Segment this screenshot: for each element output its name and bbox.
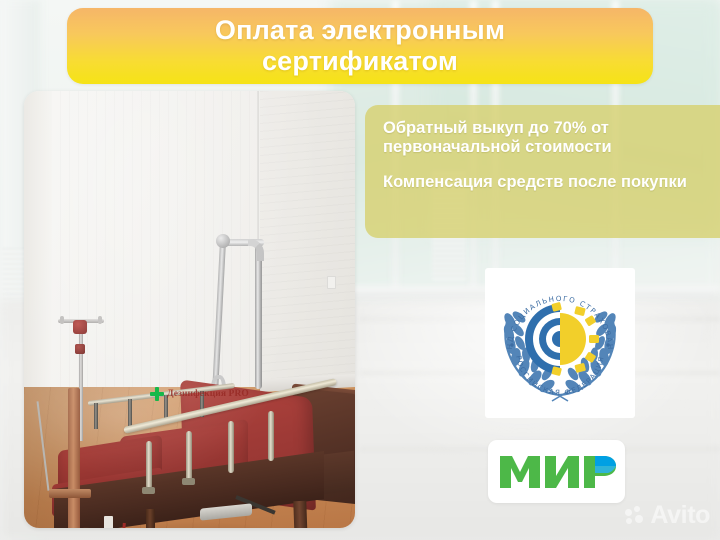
product-label-tag — [104, 516, 113, 528]
lift-handle-joint — [216, 234, 230, 248]
iv-stand-clamp — [75, 344, 85, 354]
mir-wing — [595, 456, 616, 466]
bed-rail-post — [186, 431, 192, 481]
page-title-line2: сертификатом — [262, 46, 458, 76]
benefit-item-buyback: Обратный выкуп до 70% от первоначальной … — [383, 119, 711, 158]
mir-logo-container — [488, 440, 625, 503]
wall-switch — [327, 276, 336, 289]
wooden-upright-rail — [68, 388, 80, 528]
iv-stand-hook — [98, 316, 102, 324]
bed-rail-foot — [142, 487, 155, 494]
fss-emblem-arcs — [525, 304, 560, 374]
iv-stand-clamp — [73, 320, 87, 334]
wooden-crossbar — [49, 489, 91, 498]
page-title: Оплата электронным сертификатом — [201, 15, 519, 77]
bed-leg — [146, 509, 155, 528]
bed-rail-post — [94, 403, 98, 429]
product-photo-medical-bed[interactable]: Дезинфекция PRO — [24, 91, 355, 528]
benefits-panel: Обратный выкуп до 70% от первоначальной … — [365, 105, 720, 238]
bed-rail-post — [128, 399, 132, 427]
mir-letter-r-stem — [584, 456, 595, 488]
bed-rail-post — [146, 441, 152, 489]
iv-stand-hook — [60, 316, 64, 324]
room-wall-right — [260, 91, 355, 391]
fss-logo-container: ФОНД СОЦИАЛЬНОГО СТРАХОВАНИЯ РОССИЙСКАЯ … — [485, 268, 635, 418]
fss-logo-icon: ФОНД СОЦИАЛЬНОГО СТРАХОВАНИЯ РОССИЙСКАЯ … — [490, 273, 630, 413]
mir-letter-i — [545, 456, 579, 488]
red-strap — [121, 523, 126, 528]
benefit-item-compensation: Компенсация средств после покупки — [383, 173, 711, 192]
bed-rail-post — [268, 411, 274, 461]
page-title-line1: Оплата электронным — [215, 15, 505, 45]
bed-rail-post — [228, 421, 234, 473]
mir-letter-m — [500, 456, 540, 488]
bed-leg — [293, 501, 307, 528]
room-wall-left — [24, 91, 52, 421]
title-banner: Оплата электронным сертификатом — [67, 8, 653, 84]
bed-rail-foot — [182, 478, 195, 485]
mir-logo-icon — [498, 452, 616, 492]
lift-handle-post — [255, 244, 262, 389]
